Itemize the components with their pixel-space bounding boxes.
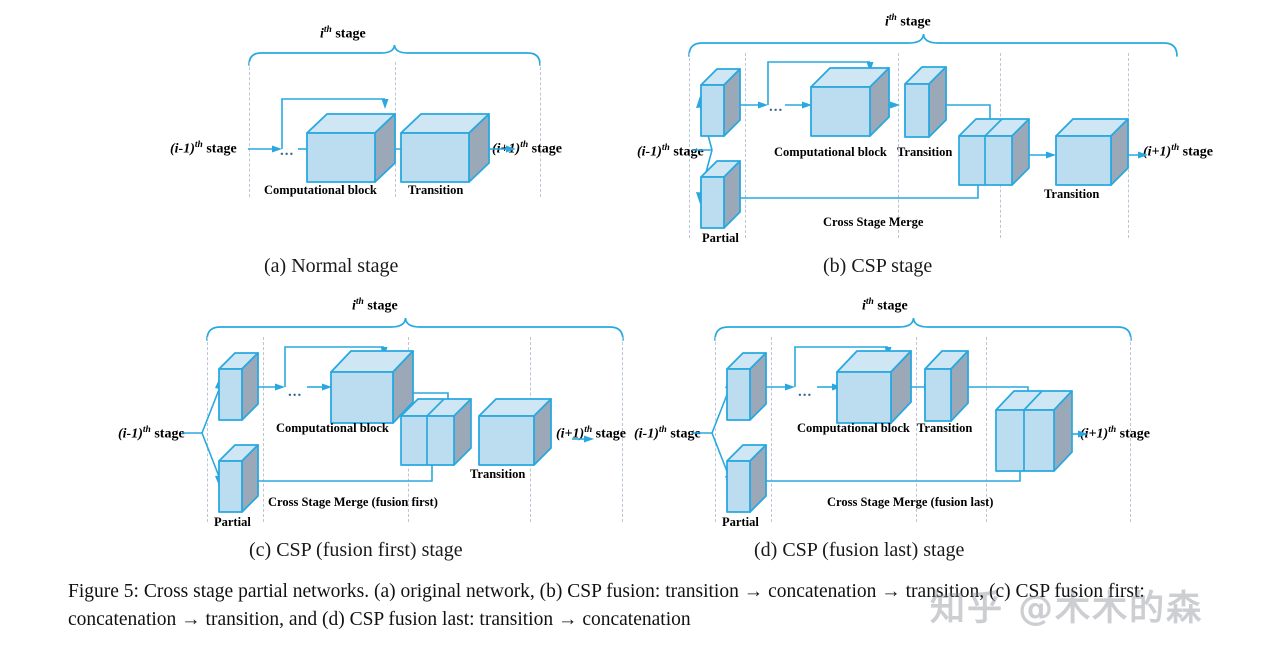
input-index-sup: th [662,143,670,153]
panel-d-top-slab-cube [726,352,768,424]
panel-c-top-slab-cube [218,352,260,424]
panel-d-transition-cube [924,350,970,424]
panel-a-transition-cube [400,113,492,185]
panel-b-partial-label: Partial [702,232,739,245]
input-index-sup: th [143,425,151,435]
stage-index-sup: th [324,25,332,35]
panel-a-input-label: (i-1)th stage [170,141,237,157]
input-index: (i-1) [170,142,195,157]
panel-a-stage-label: ith stage [320,26,366,42]
stage-word: stage [897,15,931,30]
panel-c-partial-label: Partial [214,516,251,529]
panel-b-transition-1-label: Transition [897,146,952,159]
panel-c-concat-cube [400,398,474,470]
input-index: (i-1) [118,427,143,442]
panel-b-transition-1-cube [904,66,948,140]
panel-b-merge-label: Cross Stage Merge [823,216,923,229]
output-index-sup: th [1108,425,1116,435]
panel-a-wires [248,85,548,175]
panel-d-concat-cube [995,390,1075,474]
panel-b-computational-block-label: Computational block [774,146,887,159]
panel-c-partial-cube [218,444,260,516]
input-stage-word: stage [203,142,237,157]
panel-b-computational-block-cube [810,67,892,139]
panel-c-transition-label: Transition [470,468,525,481]
panel-b-partial-cube [700,160,742,232]
input-index: (i-1) [637,145,662,160]
output-stage-word: stage [1116,427,1150,442]
panel-b-transition-2-label: Transition [1044,188,1099,201]
panel-d-computational-block-cube [836,350,914,426]
panel-a-computational-block-label: Computational block [264,184,377,197]
panel-d-transition-label: Transition [917,422,972,435]
panel-d-stage-label: ith stage [862,298,908,314]
panel-b-concat-cube [958,118,1032,190]
figure-caption-line-2: concatenation → transition, and (d) CSP … [68,606,1198,634]
stage-word: stage [874,299,908,314]
input-index-sup: th [659,425,667,435]
stage-word: stage [364,299,398,314]
panel-c-subcaption: (c) CSP (fusion first) stage [249,540,463,560]
panel-c-computational-block-label: Computational block [276,422,389,435]
stage-index-sup: th [866,297,874,307]
input-index: (i-1) [634,427,659,442]
panel-d-output-label: (i+1)th stage [1080,426,1150,442]
input-index-sup: th [195,140,203,150]
panel-b-top-slab-cube [700,68,742,140]
stage-word: stage [332,27,366,42]
panel-d-partial-cube [726,444,768,516]
figure-caption-line-1: Figure 5: Cross stage partial networks. … [68,578,1198,606]
panel-d-computational-block-label: Computational block [797,422,910,435]
output-index-sup: th [1171,143,1179,153]
panel-c-stage-label: ith stage [352,298,398,314]
panel-d-partial-label: Partial [722,516,759,529]
panel-d-subcaption: (d) CSP (fusion last) stage [754,540,964,560]
panel-c-transition-cube [478,398,554,470]
panel-b-stage-label: ith stage [885,14,931,30]
panel-c-merge-label: Cross Stage Merge (fusion first) [268,496,438,509]
panel-a-transition-label: Transition [408,184,463,197]
output-stage-word: stage [1179,145,1213,160]
figure-caption: Figure 5: Cross stage partial networks. … [68,578,1198,633]
panel-a-computational-block-cube [306,113,398,185]
panel-d-merge-label: Cross Stage Merge (fusion last) [827,496,993,509]
panel-b-subcaption: (b) CSP stage [823,256,932,276]
stage-index-sup: th [356,297,364,307]
panel-a-subcaption: (a) Normal stage [264,256,398,276]
panel-b-transition-2-cube [1055,118,1131,190]
panel-c-input-label: (i-1)th stage [118,426,185,442]
panel-b-output-label: (i+1)th stage [1143,144,1213,160]
stage-index-sup: th [889,13,897,23]
